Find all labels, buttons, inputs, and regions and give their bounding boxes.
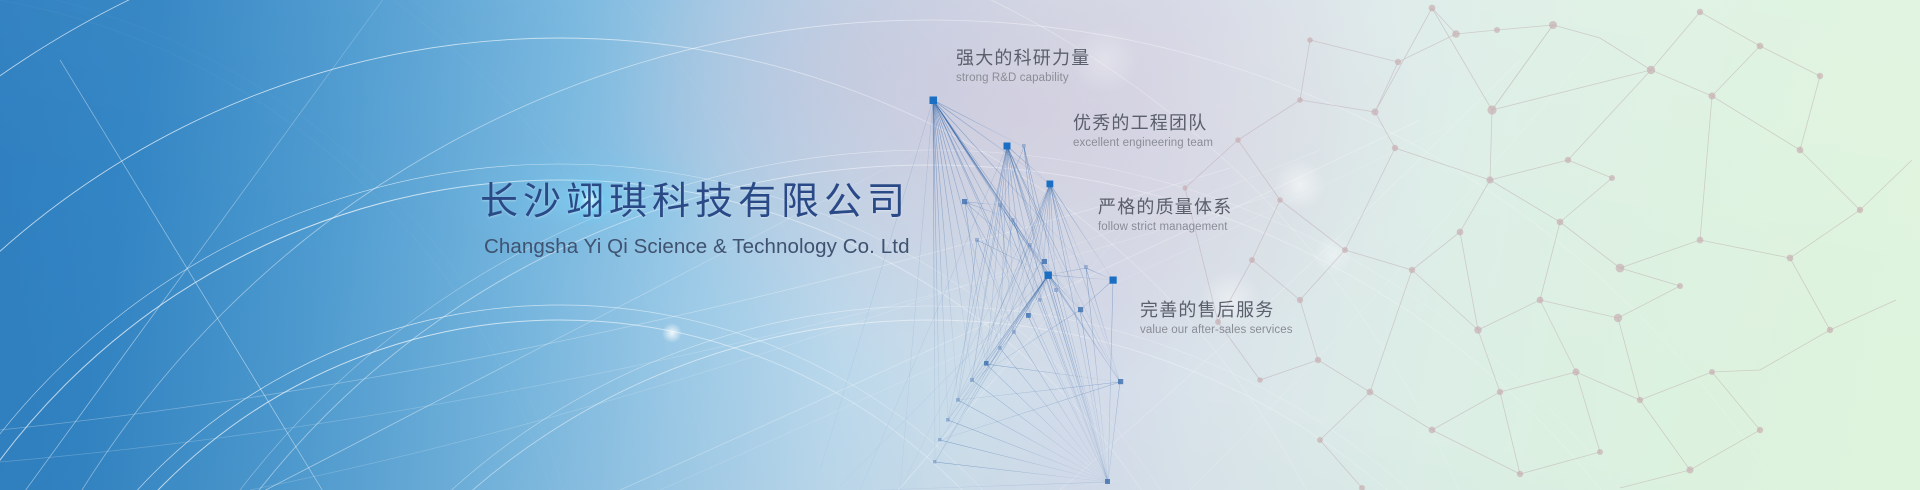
feature-item-after-sales-service: 完善的售后服务 value our after-sales services (1140, 298, 1293, 336)
feature-item-rd-capability: 强大的科研力量 strong R&D capability (956, 46, 1090, 84)
company-name-english: Changsha Yi Qi Science & Technology Co. … (484, 235, 1120, 259)
feature-item-quality-system: 严格的质量体系 follow strict management (1098, 195, 1232, 233)
feature-label-en: strong R&D capability (956, 72, 1090, 84)
feature-label-en: value our after-sales services (1140, 324, 1293, 336)
feature-label-en: excellent engineering team (1073, 137, 1213, 149)
feature-item-engineering-team: 优秀的工程团队 excellent engineering team (1073, 111, 1213, 149)
company-name-chinese: 长沙翊琪科技有限公司 (480, 178, 1120, 226)
feature-label-cn: 完善的售后服务 (1140, 298, 1293, 322)
feature-label-cn: 优秀的工程团队 (1073, 111, 1213, 135)
company-title-block: 长沙翊琪科技有限公司 Changsha Yi Qi Science & Tech… (480, 178, 1120, 259)
feature-label-cn: 强大的科研力量 (956, 46, 1090, 70)
feature-label-cn: 严格的质量体系 (1098, 195, 1232, 219)
company-banner: 长沙翊琪科技有限公司 Changsha Yi Qi Science & Tech… (0, 0, 1920, 490)
feature-label-en: follow strict management (1098, 221, 1232, 233)
